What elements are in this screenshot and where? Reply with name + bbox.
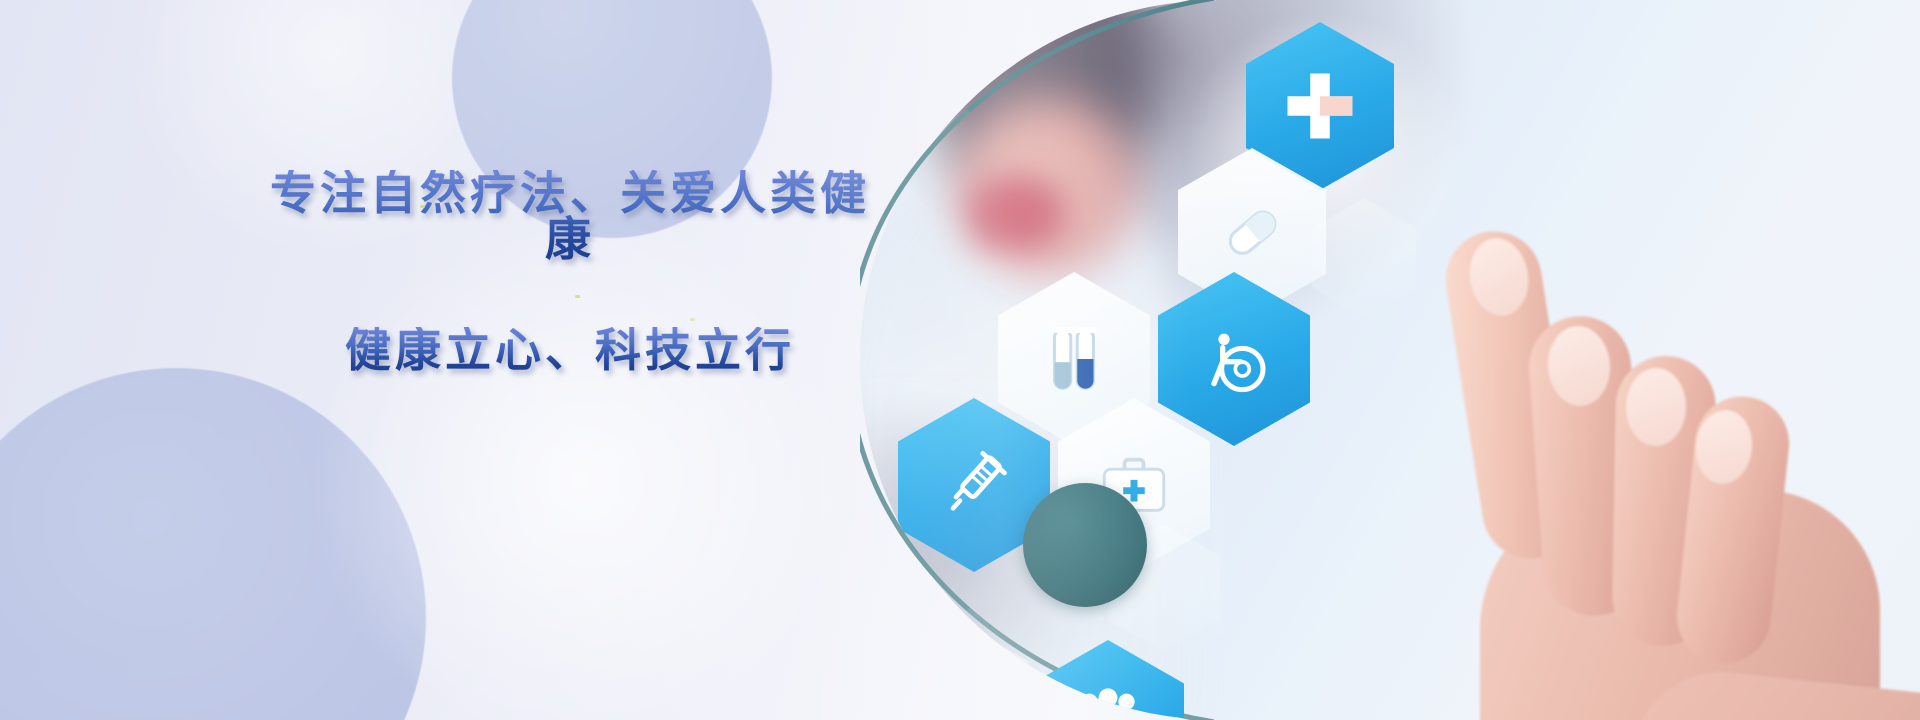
headline-line-2: 健康立心、科技立行: [250, 327, 890, 373]
pill-capsule-icon: [1214, 194, 1290, 270]
hex-people-group-icon[interactable]: [1032, 640, 1184, 720]
hero-banner: 专注自然疗法、关爱人类健康 健康立心、科技立行: [0, 0, 1920, 720]
wheelchair-icon: [1194, 319, 1274, 399]
speck: [690, 318, 695, 321]
syringe-icon: [934, 445, 1014, 525]
teal-arc-dot: [1023, 483, 1147, 607]
test-tubes-icon: [1035, 320, 1113, 398]
headline-block: 专注自然疗法、关爱人类健康 健康立心、科技立行: [250, 170, 890, 373]
medical-cross-icon: [1281, 67, 1359, 145]
speck: [575, 295, 580, 298]
hex-decorative: [1312, 198, 1416, 318]
hex-wheelchair-icon[interactable]: [1158, 272, 1310, 446]
speck: [420, 205, 425, 208]
heart-pulse-icon: [917, 655, 989, 720]
headline-line-1: 专注自然疗法、关爱人类健康: [250, 170, 890, 262]
hexagon-icon-cluster: [860, 0, 1920, 720]
hex-heart-pulse-icon[interactable]: [878, 618, 1028, 720]
hero-photo: [860, 0, 1920, 720]
photo-arc-mask: [860, 0, 1920, 720]
people-group-icon: [1069, 677, 1147, 720]
